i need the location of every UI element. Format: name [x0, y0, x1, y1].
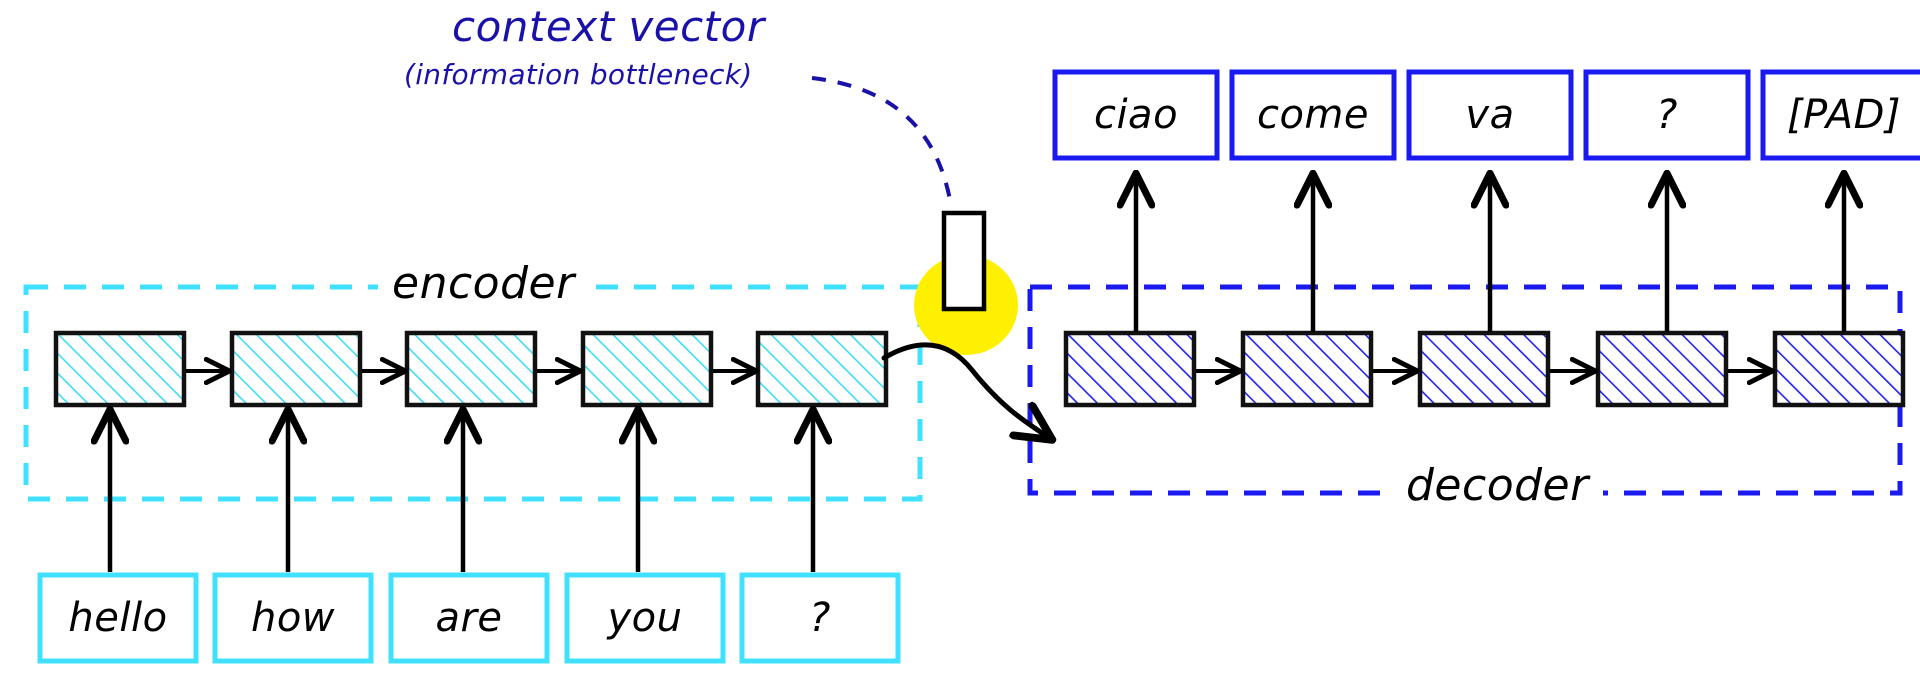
diagram-canvas: context vector (information bottleneck) … — [0, 0, 1920, 680]
output-token-come[interactable]: come — [1232, 72, 1394, 158]
enc-cell-3[interactable] — [407, 333, 535, 405]
bottleneck-rect-icon — [944, 213, 984, 309]
decoder-cells — [1066, 333, 1903, 405]
context-vector-title: context vector — [452, 2, 765, 51]
dec-cell-5[interactable] — [1775, 333, 1903, 405]
output-token-ciao[interactable]: ciao — [1055, 72, 1217, 158]
dec-cell-3[interactable] — [1420, 333, 1548, 405]
enc-cell-2[interactable] — [232, 333, 360, 405]
input-token-are[interactable]: are — [391, 575, 547, 661]
enc-cell-4[interactable] — [583, 333, 711, 405]
context-bridge-arrow — [884, 345, 1048, 437]
context-leader-line — [812, 78, 950, 200]
dec-cell-4[interactable] — [1598, 333, 1726, 405]
output-token-va[interactable]: va — [1409, 72, 1571, 158]
output-token-pad[interactable]: [PAD] — [1763, 72, 1920, 158]
input-token-question[interactable]: ? — [742, 575, 898, 661]
input-token-how[interactable]: how — [215, 575, 371, 661]
output-token-question[interactable]: ? — [1586, 72, 1748, 158]
input-to-encoder-arrows — [110, 414, 813, 572]
encoder-cells — [56, 333, 886, 405]
decoder-label: decoder — [1392, 460, 1603, 511]
context-vector-subtitle: (information bottleneck) — [404, 58, 753, 91]
enc-cell-1[interactable] — [56, 333, 184, 405]
input-token-hello[interactable]: hello — [40, 575, 196, 661]
decoder-to-output-arrows — [1136, 178, 1844, 332]
input-token-you[interactable]: you — [567, 575, 723, 661]
dec-cell-2[interactable] — [1243, 333, 1371, 405]
dec-cell-1[interactable] — [1066, 333, 1194, 405]
enc-cell-5[interactable] — [758, 333, 886, 405]
encoder-label: encoder — [378, 258, 589, 309]
